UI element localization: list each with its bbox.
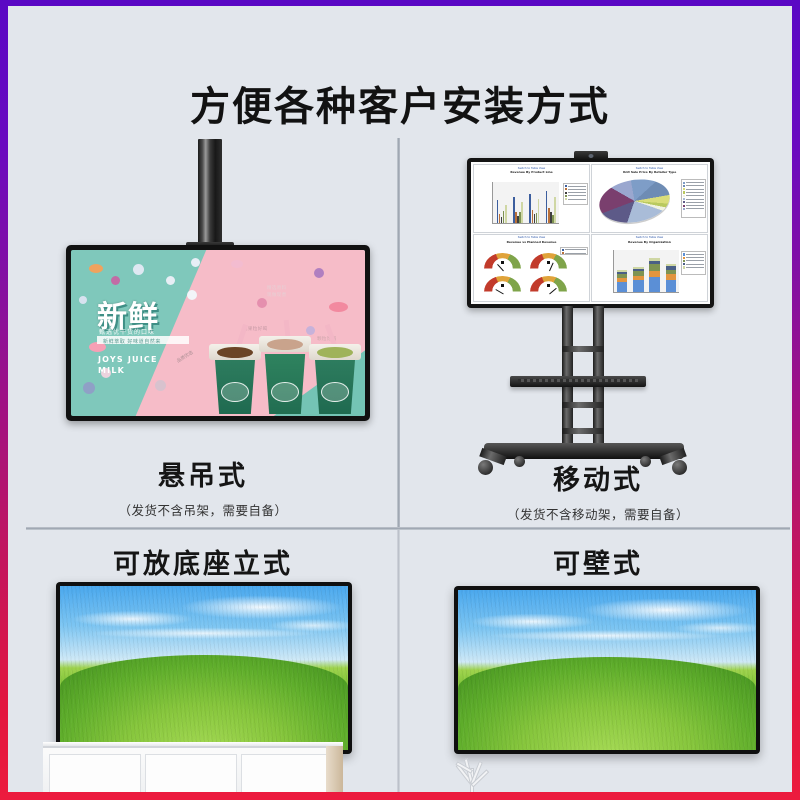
decor-blob (231, 260, 243, 268)
ceiling-pole-icon (198, 139, 222, 247)
dashboard-panel-revenue-vs-planned[interactable]: Switch to Table View Revenue vs Planned … (473, 234, 590, 303)
tv-cabinet (43, 746, 343, 792)
grass-texture (60, 586, 348, 750)
gauge (481, 273, 525, 294)
stacked-bar-plot-area (613, 250, 680, 293)
decor-blob (329, 302, 348, 312)
caption-note: （发货不含吊架，需要自备） (38, 500, 368, 519)
cabinet-door (49, 754, 141, 792)
caption-title: 悬吊式 (38, 454, 368, 493)
display-ceiling-mounted: 新鲜 甄选优干货的口味 新鲜萃取 好味道自然来 JOYS JUICE MILK … (66, 245, 370, 421)
chart-legend (563, 183, 588, 206)
gauge-chart (474, 244, 589, 301)
cabinet-door (241, 754, 333, 792)
caption-stand: 可放底座立式 (38, 542, 368, 581)
grass-texture (458, 590, 756, 750)
cart-crossbar (562, 346, 604, 352)
stacked-bar (649, 258, 660, 292)
pie-chart (592, 175, 707, 232)
decor-blob (89, 264, 103, 273)
caption-ceiling: 悬吊式 （发货不含吊架，需要自备） (38, 454, 368, 519)
beverage-cup (311, 344, 359, 414)
tv-screen-landscape (60, 586, 348, 750)
decor-blob (83, 382, 95, 394)
decor-blob (187, 290, 197, 300)
bi-dashboard: Switch to Table View Revenue By Product … (471, 162, 710, 304)
caption-title: 可放底座立式 (38, 542, 368, 581)
divider-vertical-top (397, 138, 400, 528)
bar-group (546, 182, 556, 224)
chart-legend (560, 247, 588, 255)
caption-title: 移动式 (433, 458, 763, 497)
caption-wall: 可壁式 (433, 542, 763, 581)
gauge (527, 273, 571, 294)
ad-screen: 新鲜 甄选优干货的口味 新鲜萃取 好味道自然来 JOYS JUICE MILK … (71, 250, 365, 416)
caption-note: （发货不含移动架，需要自备） (433, 504, 763, 523)
ad-brand: JOYS JUICE MILK (98, 354, 158, 376)
page-title: 方便各种客户安装方式 (8, 74, 792, 132)
cabinet-door (145, 754, 237, 792)
decor-blob (257, 298, 267, 308)
bar-group (513, 182, 523, 224)
display-wall-mounted (454, 586, 760, 754)
divider-horizontal (26, 527, 790, 530)
decor-blob (166, 276, 175, 285)
pie-chart-graphic (596, 175, 673, 229)
mobile-tv-cart (478, 306, 704, 482)
ad-strip-text: 新鲜萃取 好味道自然来 (103, 338, 161, 345)
bar-chart-plot-area (492, 182, 559, 225)
decor-blob (314, 268, 324, 278)
chart-legend (681, 179, 706, 218)
decor-blob (79, 296, 87, 304)
stacked-bar (666, 264, 677, 292)
bar-group (497, 182, 507, 224)
stacked-bar (617, 270, 628, 292)
decor-blob (191, 258, 200, 267)
bar-chart (474, 175, 589, 232)
cart-base (484, 443, 684, 459)
beverage-cup (211, 344, 259, 414)
cart-crossbar (562, 428, 604, 434)
ad-tag-b: 精选原料 现做现煮 (267, 284, 287, 298)
cart-shelf (510, 376, 646, 387)
gauge-grid (481, 250, 571, 294)
caption-title: 可壁式 (433, 542, 763, 581)
dashboard-panel-unit-sale-price[interactable]: Switch to Table View Unit Sale Price By … (591, 164, 708, 233)
stacked-bar (633, 267, 644, 292)
decor-blob (133, 264, 144, 275)
webcam-icon (574, 151, 608, 160)
stacked-bar-chart (592, 244, 707, 301)
decor-blob (111, 276, 120, 285)
bar-group (529, 182, 539, 224)
poster-canvas: 方便各种客户安装方式 新鲜 甄选优干货的口 (8, 6, 792, 792)
tv-screen-landscape (458, 590, 756, 750)
chart-legend (681, 251, 706, 275)
poster-root: 方便各种客户安装方式 新鲜 甄选优干货的口 (0, 0, 800, 800)
decor-branch (446, 752, 496, 792)
display-on-stand (56, 582, 352, 754)
caption-mobile: 移动式 （发货不含移动架，需要自备） (433, 458, 763, 523)
dashboard-panel-revenue-by-product-line[interactable]: Switch to Table View Revenue By Product … (473, 164, 590, 233)
decor-blob (306, 326, 315, 335)
cart-crossbar (562, 402, 604, 408)
beverage-cup (261, 336, 309, 414)
divider-vertical-bottom (397, 530, 400, 792)
decor-blob (155, 380, 166, 391)
dashboard-panel-revenue-by-organization[interactable]: Switch to Table View Revenue By Organiza… (591, 234, 708, 303)
display-cart-mounted: Switch to Table View Revenue By Product … (467, 158, 714, 308)
gauge (481, 250, 525, 271)
cabinet-side-panel (326, 746, 343, 792)
ad-subline: 甄选优干货的口味 (99, 327, 155, 336)
